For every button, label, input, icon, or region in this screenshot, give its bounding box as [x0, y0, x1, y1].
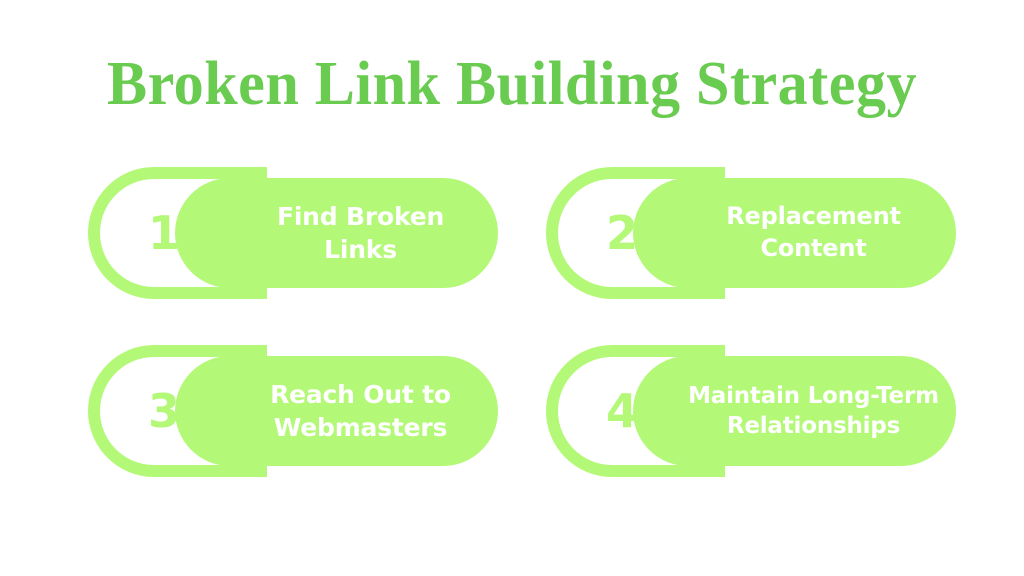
step-label-4: Maintain Long-Term Relationships: [636, 381, 953, 442]
steps-container: 1 Find Broken Links 2 Replacement Conten…: [0, 0, 1024, 576]
step-pill-3[interactable]: Reach Out to Webmasters: [175, 356, 498, 466]
step-number-4: 4: [566, 345, 678, 477]
step-card-1[interactable]: 1 Find Broken Links: [88, 158, 498, 303]
step-label-1: Find Broken Links: [175, 200, 498, 266]
step-number-3: 3: [108, 345, 220, 477]
step-card-3[interactable]: 3 Reach Out to Webmasters: [88, 336, 498, 481]
step-number-2: 2: [566, 167, 678, 299]
step-pill-1[interactable]: Find Broken Links: [175, 178, 498, 288]
step-number-1: 1: [108, 167, 220, 299]
step-pill-2[interactable]: Replacement Content: [633, 178, 956, 288]
step-label-3: Reach Out to Webmasters: [208, 378, 465, 444]
step-label-2: Replacement Content: [674, 201, 915, 264]
step-pill-4[interactable]: Maintain Long-Term Relationships: [633, 356, 956, 466]
step-card-4[interactable]: 4 Maintain Long-Term Relationships: [546, 336, 956, 481]
step-card-2[interactable]: 2 Replacement Content: [546, 158, 956, 303]
